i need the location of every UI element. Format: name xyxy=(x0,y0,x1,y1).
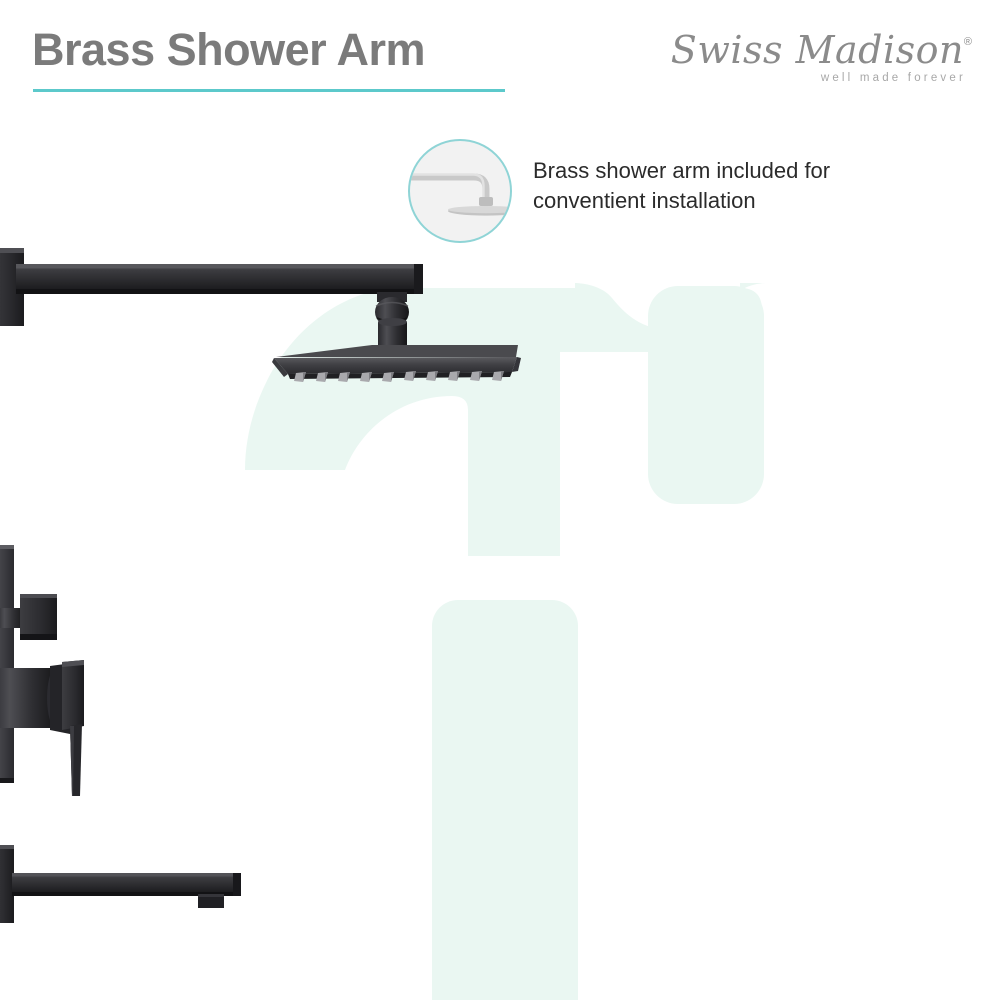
faucet-watermark xyxy=(0,0,1000,1000)
callout-text: Brass shower arm included for conventien… xyxy=(533,156,933,216)
brand-tagline: well made forever xyxy=(821,72,966,84)
page-title: Brass Shower Arm xyxy=(32,26,425,73)
brand-logo: Swiss Madison ® well made forever xyxy=(692,28,972,90)
tub-spout xyxy=(0,845,241,923)
shower-system-product-photo xyxy=(0,0,1000,1000)
title-underline xyxy=(33,89,505,92)
mixer-handle xyxy=(0,660,84,796)
shower-arm-assembly xyxy=(0,248,423,348)
shower-arm-icon xyxy=(408,139,512,243)
product-marketing-image: Brass Shower Arm Swiss Madison ® well ma… xyxy=(0,0,1000,1000)
registered-trademark-icon: ® xyxy=(964,36,972,48)
diverter-knob xyxy=(0,594,57,640)
rain-shower-head xyxy=(272,345,521,382)
valve-trim-assembly xyxy=(0,545,84,796)
brand-name: Swiss Madison xyxy=(671,28,964,72)
